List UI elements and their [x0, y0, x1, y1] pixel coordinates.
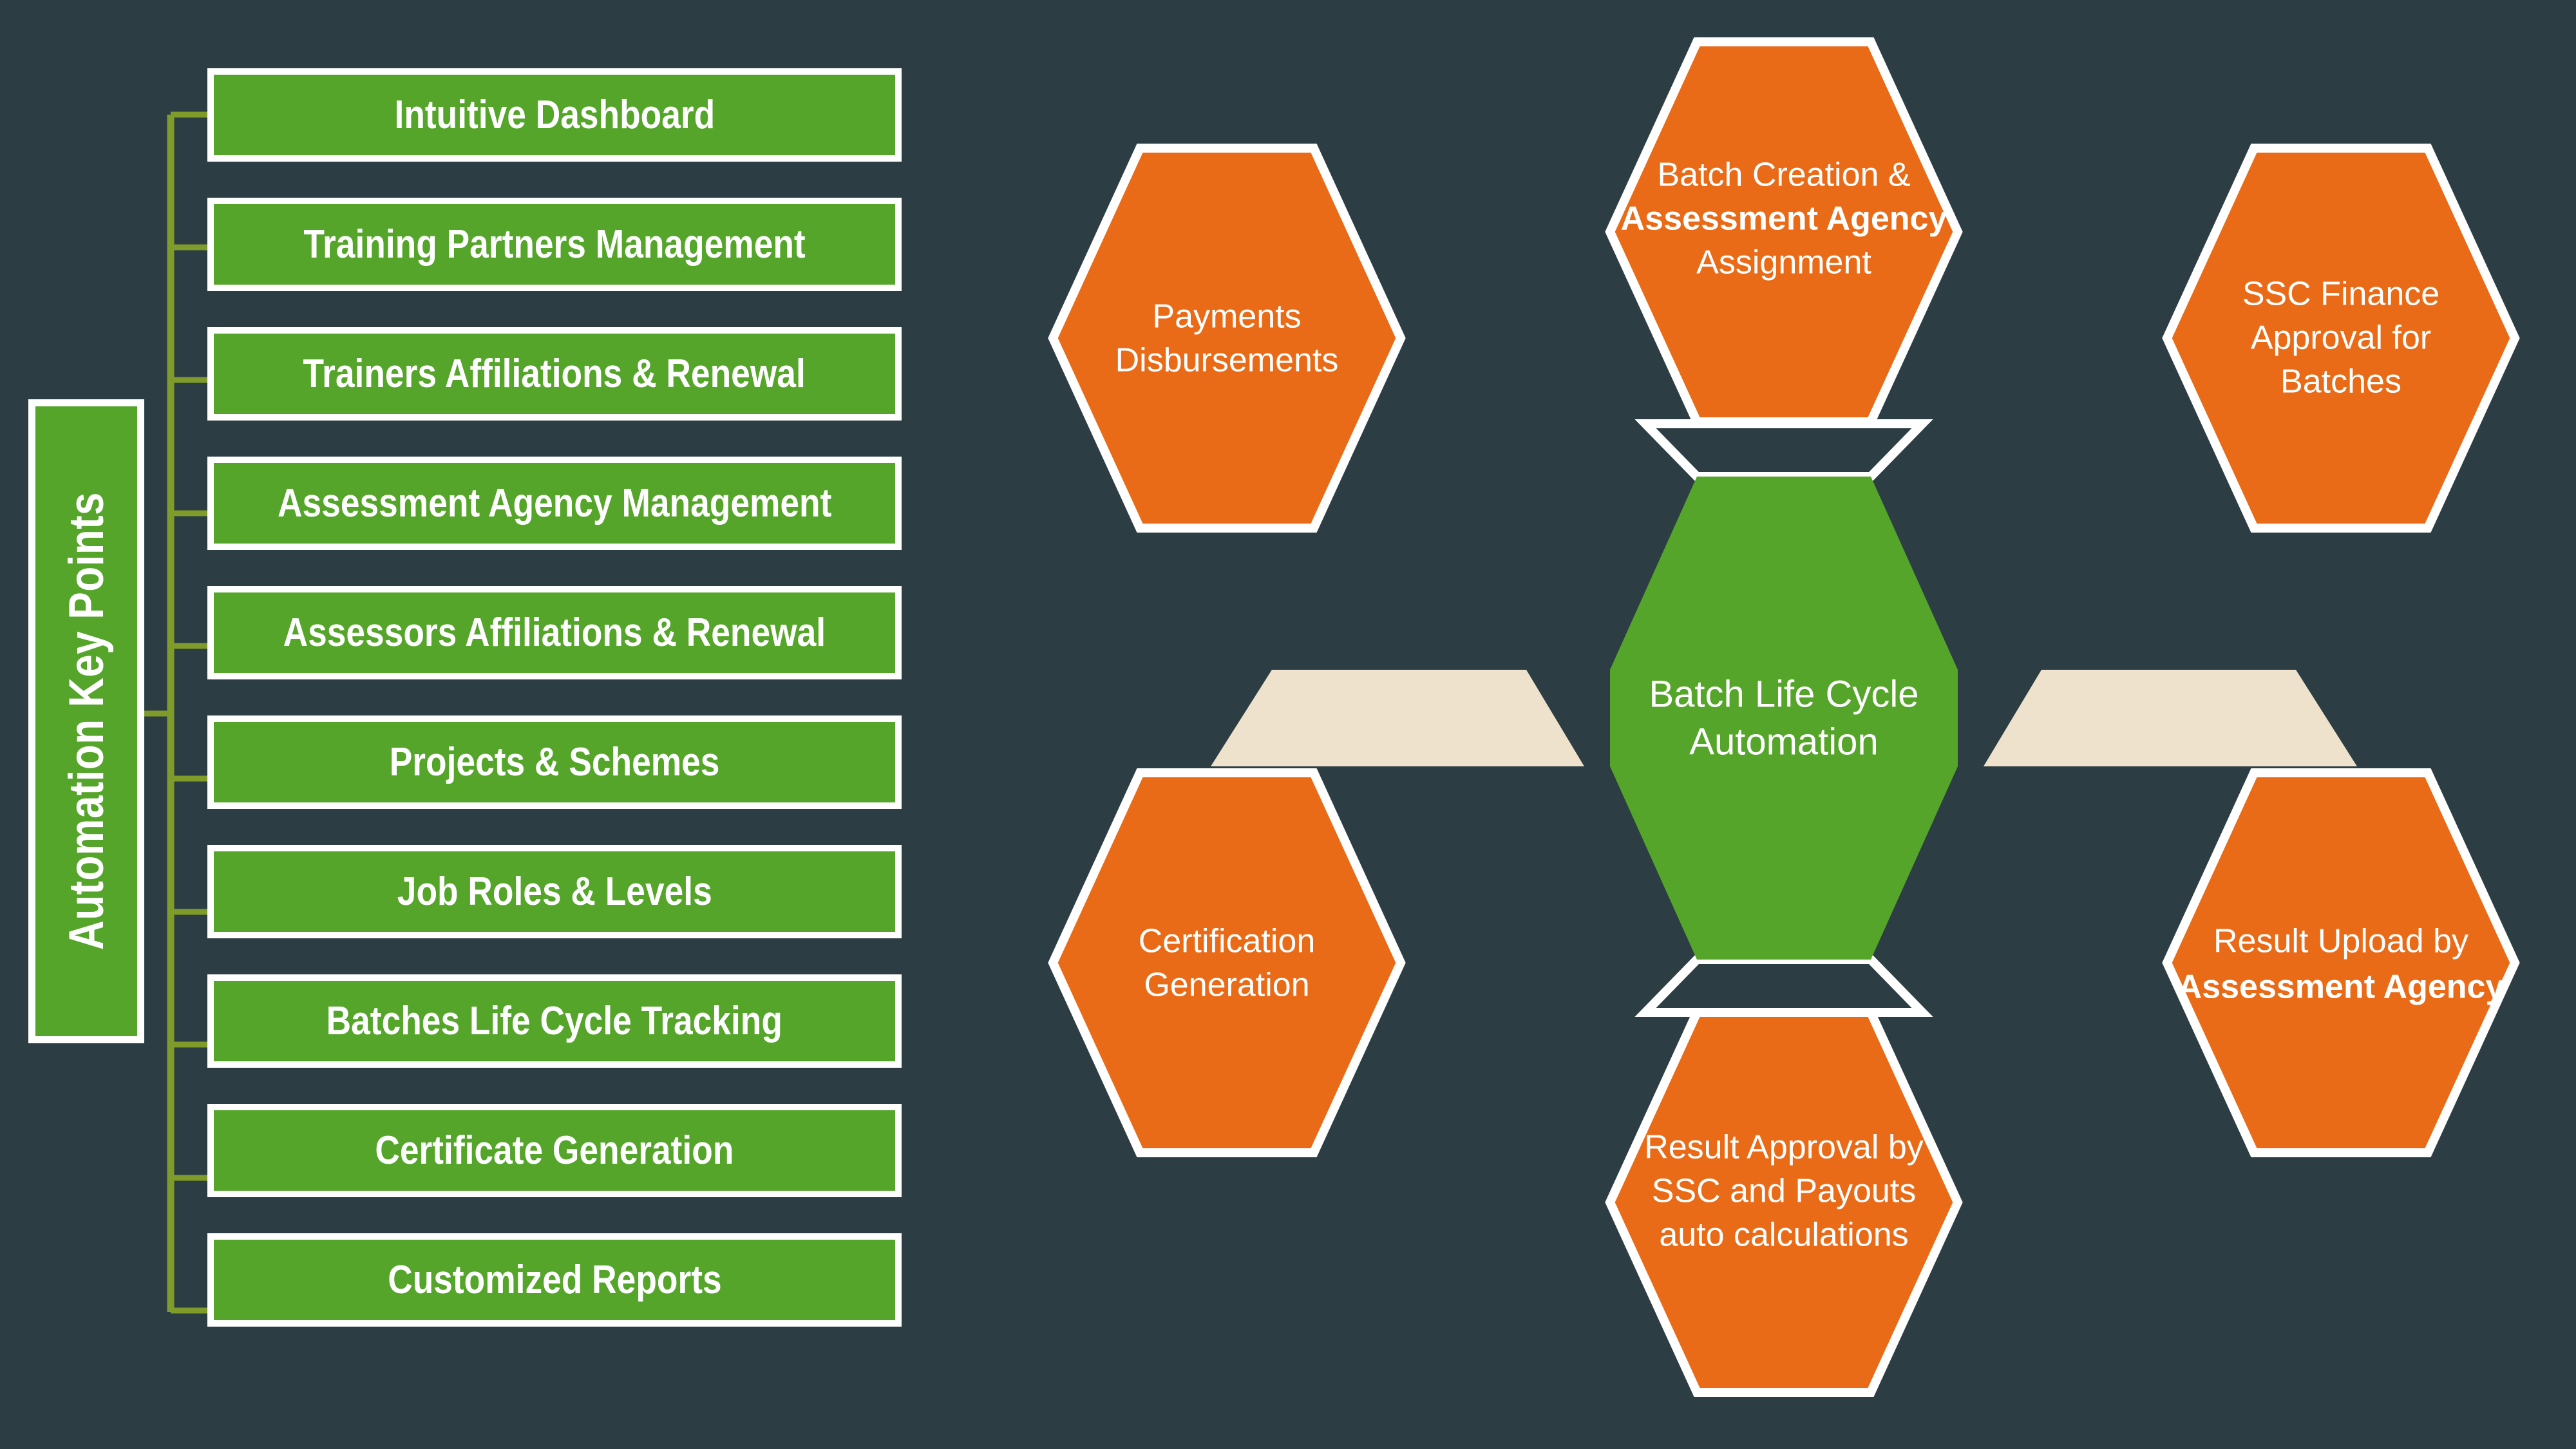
page-title-text: Automation Key Points	[59, 492, 115, 950]
diagram-canvas: Automation Key Points Intuitive Dashboar…	[0, 0, 2576, 1449]
feature-item-projects-schemes[interactable]: Projects & Schemes	[207, 715, 902, 809]
hex-line-2: Disbursements	[1115, 342, 1339, 379]
feature-item-batches-life-cycle-tracking[interactable]: Batches Life Cycle Tracking	[207, 974, 902, 1068]
feature-item-trainers-affiliations-renewal[interactable]: Trainers Affiliations & Renewal	[207, 327, 902, 421]
feature-item-intuitive-dashboard[interactable]: Intuitive Dashboard	[207, 68, 902, 162]
hex-line-1: Payments	[1152, 298, 1301, 336]
feature-item-label: Training Partners Management	[303, 222, 805, 267]
hex-ssc-finance-approval-for-batches[interactable]: SSC Finance Approval for Batches	[2167, 148, 2515, 528]
hex-line-1: Batch Creation &	[1657, 156, 1910, 194]
hex-line-1: Certification	[1139, 923, 1316, 960]
hex-center-line-2: Automation	[1689, 721, 1878, 762]
hex-certification-generation[interactable]: Certification Generation	[1053, 773, 1401, 1153]
gap-filler-top	[1645, 424, 1922, 477]
hex-center-line-1: Batch Life Cycle	[1649, 673, 1918, 715]
hex-line-2: Assessment Agency	[1621, 200, 1947, 238]
feature-item-customized-reports[interactable]: Customized Reports	[207, 1233, 902, 1327]
hex-batch-creation-assessment-agency-assignment[interactable]: Batch Creation & Assessment Agency Assig…	[1610, 42, 1958, 422]
feature-item-assessors-affiliations-renewal[interactable]: Assessors Affiliations & Renewal	[207, 586, 902, 679]
feature-item-label: Job Roles & Levels	[397, 869, 712, 914]
hex-line-1: Result Approval by	[1644, 1129, 1924, 1166]
hex-result-upload-by-assessment-agency[interactable]: Result Upload by Assessment Agency	[2167, 773, 2515, 1153]
feature-item-label: Certificate Generation	[375, 1128, 734, 1173]
hex-line-1: Result Upload by	[2213, 923, 2468, 960]
gap-filler-left	[1211, 670, 1584, 766]
gap-filler-right	[1984, 670, 2357, 766]
batch-life-cycle-hex-diagram: Batch Creation & Assessment Agency Assig…	[1018, 26, 2550, 1410]
hex-line-1: SSC Finance	[2242, 276, 2439, 313]
automation-key-points-panel: Automation Key Points Intuitive Dashboar…	[0, 0, 934, 1449]
feature-item-label: Batches Life Cycle Tracking	[327, 998, 782, 1044]
page-title: Automation Key Points	[28, 399, 144, 1043]
hex-line-3: auto calculations	[1659, 1217, 1908, 1254]
feature-item-label: Trainers Affiliations & Renewal	[303, 351, 806, 397]
feature-item-certificate-generation[interactable]: Certificate Generation	[207, 1104, 902, 1197]
feature-item-label: Assessors Affiliations & Renewal	[283, 610, 826, 656]
feature-item-label: Projects & Schemes	[390, 739, 720, 785]
hex-payments-disbursements[interactable]: Payments Disbursements	[1053, 148, 1401, 528]
hex-line-3: Batches	[2280, 363, 2401, 401]
feature-item-label: Customized Reports	[388, 1257, 721, 1303]
feature-item-assessment-agency-management[interactable]: Assessment Agency Management	[207, 457, 902, 550]
hex-line-2: Approval for	[2251, 319, 2431, 357]
hex-line-2: SSC and Payouts	[1652, 1173, 1916, 1210]
feature-item-label: Assessment Agency Management	[278, 480, 831, 526]
hex-line-2: Assessment Agency	[2178, 969, 2505, 1006]
feature-list: Intuitive Dashboard Training Partners Ma…	[207, 68, 902, 1363]
hex-batch-life-cycle-automation[interactable]: Batch Life Cycle Automation	[1610, 477, 1958, 960]
feature-item-label: Intuitive Dashboard	[394, 92, 715, 138]
hex-line-3: Assignment	[1696, 244, 1871, 281]
hex-result-approval-by-ssc-and-payouts[interactable]: Result Approval by SSC and Payouts auto …	[1610, 1012, 1958, 1392]
gap-filler-bottom	[1645, 960, 1922, 1012]
feature-item-training-partners-management[interactable]: Training Partners Management	[207, 198, 902, 291]
hex-line-2: Generation	[1144, 967, 1309, 1004]
feature-item-job-roles-levels[interactable]: Job Roles & Levels	[207, 845, 902, 938]
